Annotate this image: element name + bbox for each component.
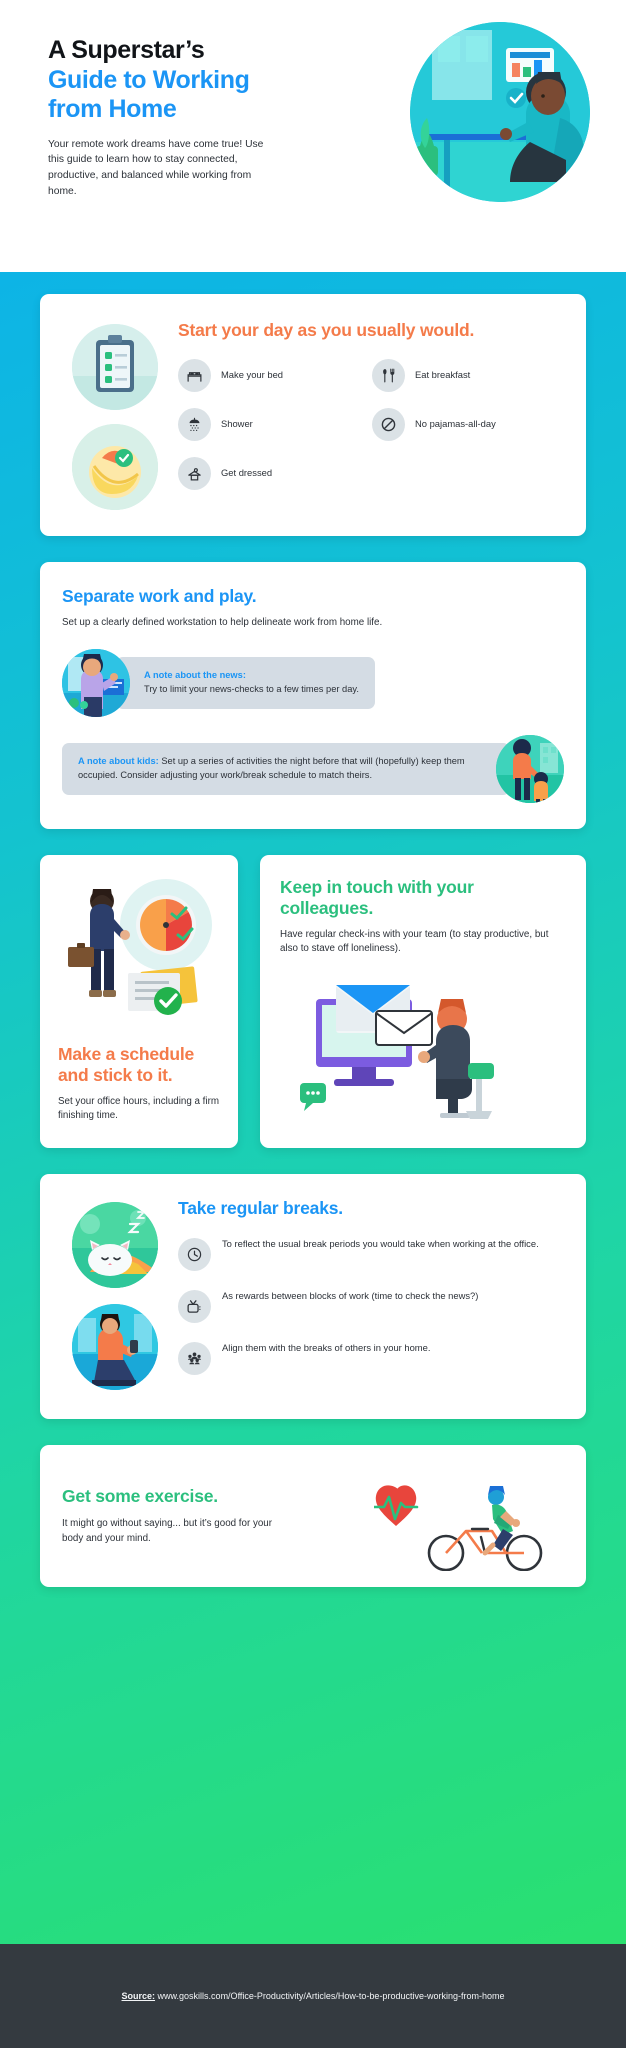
card-get-some-exercise: Get some exercise. It might go without s… bbox=[40, 1445, 586, 1587]
section2-subtitle: Set up a clearly defined workstation to … bbox=[62, 616, 564, 631]
footer: Source: www.goskills.com/Office-Producti… bbox=[0, 1944, 626, 2048]
person-on-phone-illustration bbox=[72, 1304, 158, 1390]
list-item: No pajamas-all-day bbox=[372, 408, 566, 441]
card-make-a-schedule: Make a schedule and stick to it. Set you… bbox=[40, 855, 238, 1148]
content-body: Start your day as you usually would. Mak… bbox=[0, 272, 626, 1944]
group-people-icon bbox=[178, 1342, 211, 1375]
page-title: A Superstar’s Guide to Working from Home… bbox=[48, 36, 338, 200]
list-item-label: Align them with the breaks of others in … bbox=[222, 1341, 430, 1355]
colleagues-body: Have regular check-ins with your team (t… bbox=[280, 928, 566, 957]
list-item-label: No pajamas-all-day bbox=[415, 418, 496, 431]
list-item: Get dressed bbox=[178, 457, 372, 490]
list-item: As rewards between blocks of work (time … bbox=[178, 1289, 566, 1323]
section1-content: Start your day as you usually would. Mak… bbox=[170, 320, 566, 510]
section1-title: Start your day as you usually would. bbox=[178, 320, 566, 341]
footer-source: Source: www.goskills.com/Office-Producti… bbox=[122, 1991, 505, 2001]
list-item: Eat breakfast bbox=[372, 359, 566, 392]
list-item: To reflect the usual break periods you w… bbox=[178, 1237, 566, 1271]
television-icon bbox=[178, 1290, 211, 1323]
shower-icon bbox=[178, 408, 211, 441]
header: A Superstar’s Guide to Working from Home… bbox=[0, 0, 626, 272]
note-news-row: A note about the news: Try to limit your… bbox=[62, 649, 564, 717]
list-item-label: Eat breakfast bbox=[415, 369, 470, 382]
clothes-hanger-icon bbox=[178, 457, 211, 490]
section1-icon-list: Make your bed Eat breakfast bbox=[178, 359, 566, 506]
fork-knife-icon bbox=[372, 359, 405, 392]
list-item: Shower bbox=[178, 408, 372, 441]
exercise-illustration bbox=[374, 1471, 564, 1561]
section2-title: Separate work and play. bbox=[62, 586, 564, 607]
clock-icon bbox=[178, 1238, 211, 1271]
section4-illustrations bbox=[60, 1198, 170, 1393]
schedule-title: Make a schedule and stick to it. bbox=[58, 1044, 220, 1086]
hero-illustration bbox=[410, 22, 590, 202]
breakfast-illustration bbox=[72, 424, 158, 510]
list-item-label: As rewards between blocks of work (time … bbox=[222, 1289, 478, 1303]
note-kids-heading: A note about kids: bbox=[78, 756, 159, 766]
checklist-illustration bbox=[72, 324, 158, 410]
footer-source-label: Source: bbox=[122, 1991, 156, 2001]
section5-body: It might go without saying... but it’s g… bbox=[62, 1517, 282, 1546]
note-news-heading: A note about the news: bbox=[144, 669, 359, 683]
header-subtitle: Your remote work dreams have come true! … bbox=[48, 137, 280, 201]
card-separate-work-and-play: Separate work and play. Set up a clearly… bbox=[40, 562, 586, 829]
title-line-1: A Superstar’s bbox=[48, 36, 338, 66]
note-kids: A note about kids: Set up a series of ac… bbox=[62, 743, 510, 795]
colleagues-title: Keep in touch with your colleagues. bbox=[280, 877, 566, 919]
bed-icon bbox=[178, 359, 211, 392]
list-item-label: To reflect the usual break periods you w… bbox=[222, 1237, 539, 1251]
colleagues-illustration bbox=[280, 971, 566, 1126]
news-illustration bbox=[62, 649, 130, 717]
sleeping-cat-illustration bbox=[72, 1202, 158, 1288]
no-entry-icon bbox=[372, 408, 405, 441]
row-schedule-colleagues: Make a schedule and stick to it. Set you… bbox=[40, 855, 586, 1148]
card-start-your-day: Start your day as you usually would. Mak… bbox=[40, 294, 586, 536]
note-news: A note about the news: Try to limit your… bbox=[116, 657, 375, 709]
schedule-body: Set your office hours, including a firm … bbox=[58, 1095, 220, 1124]
card-keep-in-touch: Keep in touch with your colleagues. Have… bbox=[260, 855, 586, 1148]
list-item-label: Shower bbox=[221, 418, 253, 431]
section4-content: Take regular breaks. To reflect the usua… bbox=[170, 1198, 566, 1393]
section5-content: Get some exercise. It might go without s… bbox=[62, 1486, 374, 1546]
note-news-body: Try to limit your news-checks to a few t… bbox=[144, 683, 359, 697]
title-line-3: from Home bbox=[48, 95, 338, 125]
schedule-illustration bbox=[58, 873, 220, 1036]
list-item: Make your bed bbox=[178, 359, 372, 392]
title-line-2: Guide to Working bbox=[48, 66, 338, 96]
footer-source-url[interactable]: www.goskills.com/Office-Productivity/Art… bbox=[158, 1991, 505, 2001]
list-item: Align them with the breaks of others in … bbox=[178, 1341, 566, 1375]
section1-illustrations bbox=[60, 320, 170, 510]
kids-illustration bbox=[496, 735, 564, 803]
list-item-label: Get dressed bbox=[221, 467, 272, 480]
list-item-label: Make your bed bbox=[221, 369, 283, 382]
section5-title: Get some exercise. bbox=[62, 1486, 374, 1507]
section4-title: Take regular breaks. bbox=[178, 1198, 566, 1219]
card-take-regular-breaks: Take regular breaks. To reflect the usua… bbox=[40, 1174, 586, 1419]
note-kids-row: A note about kids: Set up a series of ac… bbox=[62, 735, 564, 803]
